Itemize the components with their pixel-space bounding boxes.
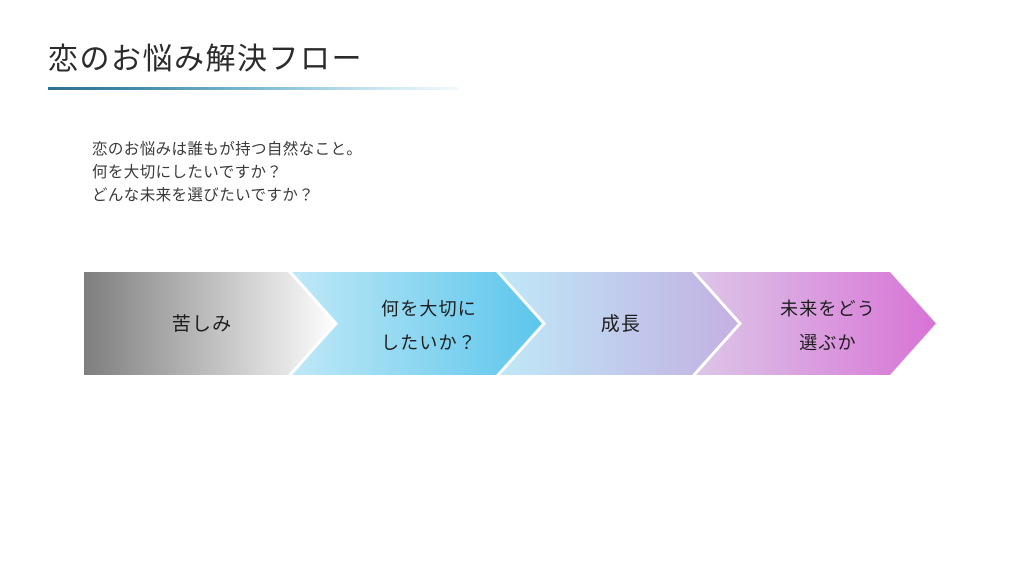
flow-step-4-label-line1: 未来をどう [780, 299, 876, 319]
page-title: 恋のお悩み解決フロー [48, 40, 468, 80]
flow-step-1[interactable]: 苦しみ [84, 272, 334, 375]
process-flow-svg: 苦しみ 何を大切に したいか？ 成長 未来をどう 選ぶか [84, 272, 940, 375]
flow-step-3-label: 成長 [601, 313, 641, 335]
body-line-1: 恋のお悩みは誰もが持つ自然なこと。 [92, 138, 362, 161]
body-line-3: どんな未来を選びたいですか？ [92, 184, 362, 207]
title-underline-rule [48, 87, 458, 90]
title-block: 恋のお悩み解決フロー [48, 40, 468, 90]
presentation-slide: 恋のお悩み解決フロー 恋のお悩みは誰もが持つ自然なこと。 何を大切にしたいですか… [0, 0, 1024, 576]
body-line-2: 何を大切にしたいですか？ [92, 161, 362, 184]
process-flow-diagram: 苦しみ 何を大切に したいか？ 成長 未来をどう 選ぶか [84, 272, 940, 375]
flow-step-1-label: 苦しみ [172, 313, 233, 335]
flow-step-4-label-line2: 選ぶか [799, 333, 857, 353]
flow-step-2-label-line2: したいか？ [381, 333, 477, 353]
body-text-block: 恋のお悩みは誰もが持つ自然なこと。 何を大切にしたいですか？ どんな未来を選びた… [92, 138, 362, 207]
flow-step-2-label-line1: 何を大切に [381, 299, 477, 319]
